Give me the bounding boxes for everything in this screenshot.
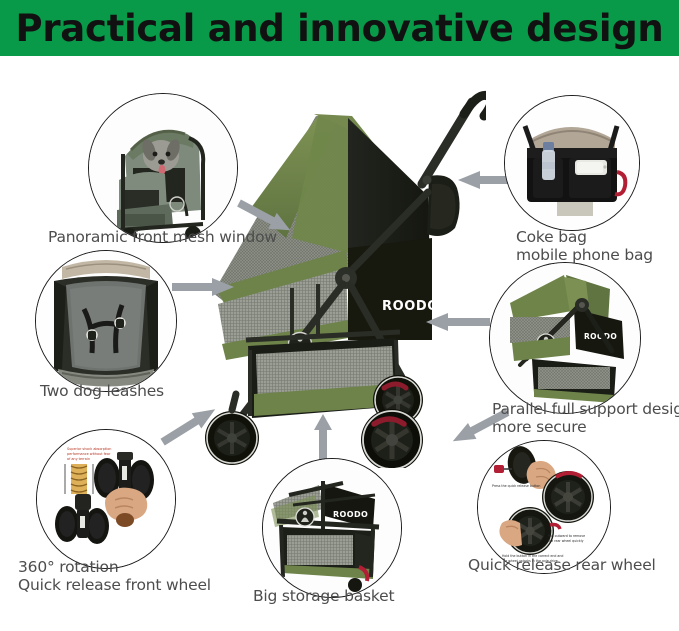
arrow-two-dog-leashes [172, 275, 234, 301]
callout-image-two-dog-leashes [35, 250, 177, 392]
callout-image-rear-wheel: Press the quick release button Pull outw… [477, 440, 611, 574]
arrow-storage-basket [310, 414, 336, 462]
callout-image-storage-basket: ROODO [262, 458, 402, 598]
svg-text:the rear wheel quickly: the rear wheel quickly [548, 539, 584, 543]
callout-label-storage-basket: Big storage basket [253, 587, 453, 605]
svg-text:performance without fear: performance without fear [67, 452, 111, 456]
callout-image-parallel-support: ROODO [489, 262, 641, 414]
page-title: Practical and innovative design [0, 0, 679, 56]
arrow-parallel-support [424, 310, 490, 336]
svg-text:Superior shock absorption: Superior shock absorption [67, 447, 111, 451]
callout-image-panoramic-front-mesh-window [88, 93, 238, 243]
callout-image-coke-bag [504, 95, 640, 231]
callout-label-coke-bag: Coke bag mobile phone bag [516, 228, 679, 264]
svg-text:®: ® [437, 299, 443, 306]
svg-text:of any terrain: of any terrain [67, 457, 90, 461]
callout-panoramic-front-mesh-window [88, 93, 236, 241]
infographic-root: Practical and innovative design [0, 0, 679, 631]
callout-label-panoramic-front-mesh-window: Panoramic front mesh window [48, 228, 278, 246]
callout-coke-bag [504, 95, 638, 229]
callout-two-dog-leashes [35, 250, 175, 390]
callout-label-front-wheel: 360° rotation Quick release front wheel [18, 558, 248, 594]
callout-front-wheel: Superior shock absorption performance wi… [36, 429, 174, 567]
svg-text:ROODO: ROODO [333, 510, 368, 519]
svg-text:Press the quick release button: Press the quick release button [492, 484, 540, 488]
callout-label-two-dog-leashes: Two dog leashes [40, 382, 220, 400]
callout-label-rear-wheel: Quick release rear wheel [468, 556, 678, 574]
callout-storage-basket: ROODO [262, 458, 400, 596]
callout-image-front-wheel: Superior shock absorption performance wi… [36, 429, 176, 569]
callout-label-parallel-support: Parallel full support design more secure [492, 400, 679, 436]
svg-text:Pull outward to remove: Pull outward to remove [548, 534, 585, 538]
callout-parallel-support: ROODO [489, 262, 639, 412]
callout-rear-wheel: Press the quick release button Pull outw… [477, 440, 609, 572]
